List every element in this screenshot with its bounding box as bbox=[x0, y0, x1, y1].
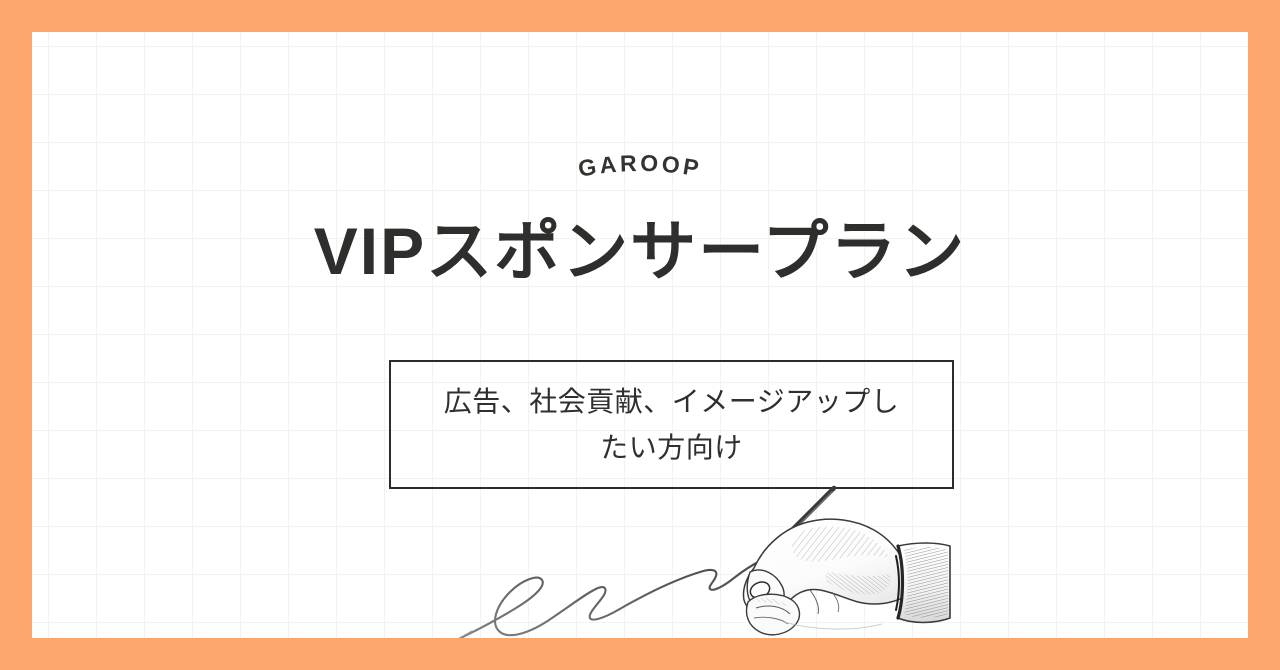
brand-eyebrow: GAROOP bbox=[32, 144, 1248, 200]
banner-inner-panel: GAROOP VIPスポンサープラン 広告、社会貢献、イメージアップしたい方向け bbox=[32, 32, 1248, 638]
signature-flourish bbox=[426, 560, 762, 638]
brand-eyebrow-label: GAROOP bbox=[576, 150, 703, 182]
headline-title: VIPスポンサープラン bbox=[32, 218, 1248, 284]
sleeve-cuff bbox=[896, 543, 950, 623]
hand-writing-illustration bbox=[412, 472, 952, 638]
callout-box: 広告、社会貢献、イメージアップしたい方向け bbox=[389, 360, 954, 489]
hand-icon bbox=[743, 519, 912, 635]
banner-root: GAROOP VIPスポンサープラン 広告、社会貢献、イメージアップしたい方向け bbox=[0, 0, 1280, 670]
callout-line-1: 広告、社会貢献、イメージア bbox=[444, 386, 814, 417]
garoop-arc-text: GAROOP bbox=[510, 144, 770, 204]
callout-text: 広告、社会貢献、イメージアップしたい方向け bbox=[432, 379, 912, 470]
hand-writing-pen-icon bbox=[412, 472, 952, 638]
pen-icon bbox=[757, 488, 834, 564]
